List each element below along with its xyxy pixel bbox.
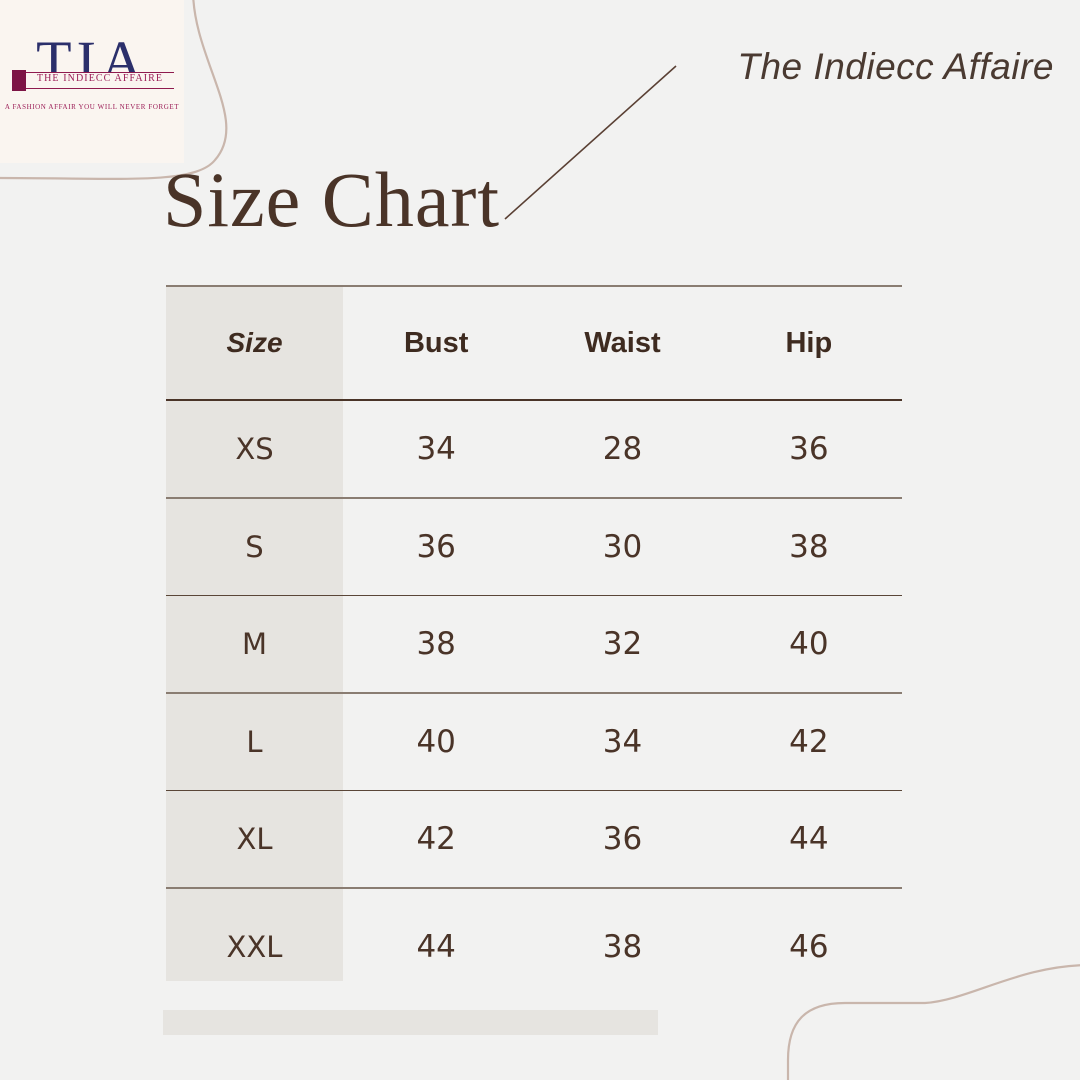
column-header-waist: Waist xyxy=(529,286,715,400)
cell-hip: 46 xyxy=(716,888,902,995)
cell-size: XL xyxy=(166,791,343,889)
cell-waist: 28 xyxy=(529,400,715,498)
diagonal-accent-line xyxy=(505,66,676,219)
cell-bust: 36 xyxy=(343,498,529,596)
cell-waist: 36 xyxy=(529,791,715,889)
cell-bust: 38 xyxy=(343,596,529,694)
logo-tagline: A FASHION AFFAIR YOU WILL NEVER FORGET xyxy=(0,103,184,111)
cell-waist: 32 xyxy=(529,596,715,694)
table-row: M 38 32 40 xyxy=(166,596,902,694)
cell-hip: 44 xyxy=(716,791,902,889)
cell-bust: 40 xyxy=(343,693,529,791)
column-header-bust: Bust xyxy=(343,286,529,400)
bottom-accent-bar xyxy=(163,1010,658,1035)
table-header: Size Bust Waist Hip xyxy=(166,286,902,400)
size-chart-table: Size Bust Waist Hip XS 34 28 36 S 36 30 xyxy=(166,285,902,995)
size-chart-table-wrap: Size Bust Waist Hip XS 34 28 36 S 36 30 xyxy=(166,285,902,995)
table-row: XL 42 36 44 xyxy=(166,791,902,889)
cell-size: XXL xyxy=(166,888,343,995)
cell-waist: 34 xyxy=(529,693,715,791)
column-header-size: Size xyxy=(166,286,343,400)
cell-hip: 38 xyxy=(716,498,902,596)
brand-name: The Indiecc Affaire xyxy=(737,46,1054,88)
table-row: XS 34 28 36 xyxy=(166,400,902,498)
cell-waist: 38 xyxy=(529,888,715,995)
size-chart-page: TIA THE INDIECC AFFAIRE A FASHION AFFAIR… xyxy=(0,0,1080,1080)
table-row: L 40 34 42 xyxy=(166,693,902,791)
cell-size: M xyxy=(166,596,343,694)
table-header-row: Size Bust Waist Hip xyxy=(166,286,902,400)
column-header-hip: Hip xyxy=(716,286,902,400)
cell-waist: 30 xyxy=(529,498,715,596)
brand-logo-card: TIA THE INDIECC AFFAIRE A FASHION AFFAIR… xyxy=(0,0,184,163)
cell-bust: 34 xyxy=(343,400,529,498)
cell-bust: 44 xyxy=(343,888,529,995)
page-title: Size Chart xyxy=(163,161,500,239)
cell-hip: 40 xyxy=(716,596,902,694)
brand-logo: TIA THE INDIECC AFFAIRE A FASHION AFFAIR… xyxy=(0,0,184,163)
cell-size: XS xyxy=(166,400,343,498)
cell-bust: 42 xyxy=(343,791,529,889)
table-body: XS 34 28 36 S 36 30 38 M 38 32 40 xyxy=(166,400,902,995)
logo-banner-text: THE INDIECC AFFAIRE xyxy=(26,73,174,84)
logo-banner-square xyxy=(12,70,26,91)
cell-size: L xyxy=(166,693,343,791)
cell-hip: 42 xyxy=(716,693,902,791)
cell-size: S xyxy=(166,498,343,596)
cell-hip: 36 xyxy=(716,400,902,498)
table-row: S 36 30 38 xyxy=(166,498,902,596)
table-row: XXL 44 38 46 xyxy=(166,888,902,995)
